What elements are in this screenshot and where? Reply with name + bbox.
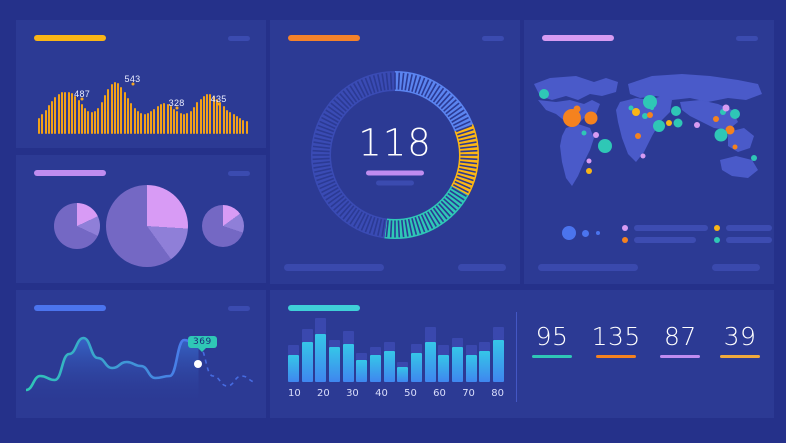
wave-bar [61, 92, 63, 134]
bar-column[interactable] [452, 318, 463, 382]
bar-x-tick: 70 [462, 388, 475, 399]
kpi-item[interactable]: 95 [532, 324, 572, 358]
wave-bar [117, 83, 119, 134]
wave-bar [242, 120, 244, 134]
gauge-tick [313, 151, 330, 152]
gauge-center-readout: 118 [335, 125, 455, 186]
wave-bar [81, 104, 83, 134]
world-bubble-map[interactable] [532, 66, 768, 206]
bar-segment-base [356, 360, 367, 382]
bar-segment-top [493, 327, 504, 340]
wave-bar [87, 111, 89, 134]
footer-placeholder-right [458, 264, 506, 271]
wave-bar [196, 102, 198, 134]
bar-segment-top [425, 327, 436, 342]
kpi-item[interactable]: 39 [720, 324, 760, 358]
kpi-row: 951358739 [532, 324, 760, 358]
legend-dot-purple [622, 225, 628, 231]
bar-x-tick: 10 [288, 388, 301, 399]
footer-placeholder-left [538, 264, 638, 271]
wave-bar [134, 108, 136, 134]
map-bubble[interactable] [581, 131, 586, 136]
kpi-underline [660, 355, 700, 358]
card-title-bar [542, 35, 614, 41]
bar-x-tick: 30 [346, 388, 359, 399]
kpi-value: 39 [720, 324, 760, 350]
bar-column[interactable] [343, 318, 354, 382]
bar-segment-top [343, 331, 354, 344]
wave-bar [38, 118, 40, 134]
map-bubble[interactable] [593, 132, 599, 138]
card-title-bar [34, 170, 106, 176]
legend-row-teal [726, 237, 772, 243]
wave-bar [111, 84, 113, 134]
wave-bar [91, 112, 93, 134]
map-bubble[interactable] [598, 139, 612, 153]
wave-bar [78, 100, 80, 134]
wave-bar [173, 109, 175, 134]
wave-bar [239, 118, 241, 134]
legend-size-large [562, 226, 576, 240]
card-menu-pill[interactable] [228, 36, 250, 41]
bar-x-tick: 20 [317, 388, 330, 399]
wave-bar [246, 121, 248, 134]
wave-bar [74, 96, 76, 134]
bar-column[interactable] [370, 318, 381, 382]
bar-column[interactable] [302, 318, 313, 382]
wave-bar [186, 113, 188, 134]
bar-x-axis: 1020304050607080 [288, 388, 504, 399]
bar-column[interactable] [411, 318, 422, 382]
bar-x-tick: 40 [375, 388, 388, 399]
wave-bar [176, 111, 178, 134]
kpi-item[interactable]: 135 [592, 324, 641, 358]
wave-bar [219, 102, 221, 134]
bar-column[interactable] [397, 318, 408, 382]
legend-row-amber [726, 225, 772, 231]
bar-segment-base [329, 347, 340, 382]
wave-bar [163, 103, 165, 134]
bar-column[interactable] [466, 318, 477, 382]
wave-bar [200, 99, 202, 134]
gauge-card[interactable]: 118 [270, 20, 520, 284]
wave-bar [180, 113, 182, 134]
wave-bar [153, 109, 155, 134]
map-bubble[interactable] [573, 106, 580, 113]
map-bubble[interactable] [539, 89, 549, 99]
card-menu-pill[interactable] [482, 36, 504, 41]
bar-segment-top [302, 329, 313, 342]
wave-bar [71, 93, 73, 134]
line-marker-point[interactable] [194, 360, 202, 368]
card-menu-pill[interactable] [736, 36, 758, 41]
bar-column[interactable] [493, 318, 504, 382]
card-menu-pill[interactable] [228, 306, 250, 311]
line-tooltip: 369 [188, 336, 217, 348]
wave-bar [203, 96, 205, 134]
wave-bar [54, 97, 56, 134]
wave-bar [160, 104, 162, 134]
map-bubble[interactable] [653, 120, 665, 132]
wave-bar [68, 92, 70, 134]
wave-bar [107, 89, 109, 134]
wave-bar [101, 102, 103, 134]
wave-bar [97, 108, 99, 134]
pie-main-center[interactable] [106, 185, 188, 267]
bar-segment-base [384, 351, 395, 382]
wave-peak-dot [175, 107, 178, 110]
map-bubble[interactable] [586, 159, 591, 164]
gauge-tick [391, 73, 392, 90]
trend-line-card[interactable]: 369 [16, 290, 266, 418]
bar-column[interactable] [479, 318, 490, 382]
bar-segment-top [466, 345, 477, 354]
legend-row-orange [634, 237, 696, 243]
kpi-value: 95 [532, 324, 572, 350]
wave-bar [140, 113, 142, 134]
wave-bar [193, 107, 195, 134]
wave-bar [157, 106, 159, 134]
wave-bar [233, 114, 235, 134]
wave-bar [236, 116, 238, 134]
wave-bar [170, 106, 172, 134]
map-bubble[interactable] [647, 112, 653, 118]
map-bubble[interactable] [635, 133, 641, 139]
bar-column[interactable] [315, 318, 326, 382]
map-bubble[interactable] [730, 109, 740, 119]
wave-bar [127, 98, 129, 134]
bar-segment-base [493, 340, 504, 382]
gauge-underline-secondary [376, 181, 414, 186]
bar-segment-top [452, 338, 463, 347]
bar-column[interactable] [288, 318, 299, 382]
wave-bar [58, 94, 60, 134]
wave-bar [226, 110, 228, 134]
wave-bar [167, 104, 169, 134]
legend-row-purple [634, 225, 708, 231]
wave-bar [206, 94, 208, 134]
footer-placeholder-right [712, 264, 760, 271]
wave-bar [130, 103, 132, 134]
map-bubble[interactable] [629, 106, 634, 111]
map-legend [538, 220, 760, 246]
pie-breakdown-card[interactable] [16, 155, 266, 283]
wave-bar [45, 110, 47, 134]
map-bubble[interactable] [671, 106, 681, 116]
gauge-tick [391, 220, 392, 237]
wave-peak-dot [81, 98, 84, 101]
wave-bar [114, 82, 116, 134]
map-bubble[interactable] [751, 155, 757, 161]
gauge-tick [398, 220, 399, 237]
card-title-bar [288, 305, 360, 311]
wave-bar [223, 106, 225, 134]
wave-histogram-plot: 487543328435 [38, 62, 248, 134]
bar-segment-top [370, 347, 381, 354]
bar-segment-top [411, 344, 422, 353]
gauge-value: 118 [335, 125, 455, 162]
legend-dot-teal [714, 237, 720, 243]
kpi-underline [596, 355, 636, 358]
bar-segment-top [479, 342, 490, 351]
wave-peak-dot [131, 82, 134, 85]
wave-bar [144, 114, 146, 134]
map-bubble[interactable] [586, 168, 592, 174]
map-bubble[interactable] [666, 120, 672, 126]
legend-dot-orange [622, 237, 628, 243]
trend-line-plot [26, 326, 256, 406]
legend-dot-amber [714, 225, 720, 231]
card-divider [516, 312, 517, 402]
bar-segment-top [356, 353, 367, 360]
pie-small-left[interactable] [54, 203, 100, 249]
legend-size-small [596, 231, 600, 235]
map-bubble[interactable] [714, 128, 727, 141]
bar-segment-base [397, 367, 408, 382]
card-title-bar [288, 35, 360, 41]
stacked-bar-chart [288, 318, 504, 382]
wave-bar [84, 108, 86, 134]
map-bubble[interactable] [650, 106, 654, 110]
kpi-value: 87 [660, 324, 700, 350]
gauge-donut[interactable]: 118 [303, 63, 487, 247]
bar-segment-base [288, 355, 299, 382]
bar-segment-top [288, 345, 299, 354]
world-map-card[interactable] [524, 20, 774, 284]
map-bubble[interactable] [732, 145, 737, 150]
kpi-item[interactable]: 87 [660, 324, 700, 358]
wave-bar [147, 113, 149, 134]
bar-column[interactable] [329, 318, 340, 382]
wave-bar [94, 111, 96, 134]
gauge-underline-primary [366, 171, 424, 176]
map-bubble[interactable] [640, 153, 645, 158]
bar-column[interactable] [356, 318, 367, 382]
bar-segment-top [329, 340, 340, 347]
wave-bar [104, 95, 106, 134]
footer-placeholder-left [284, 264, 384, 271]
dashboard: 487543328435 118 [0, 0, 786, 443]
wave-bar [64, 92, 66, 134]
gauge-tick [313, 158, 330, 159]
map-bubble[interactable] [585, 111, 598, 124]
wave-bar [183, 114, 185, 134]
wave-peak-dot [217, 102, 220, 105]
bar-segment-base [343, 344, 354, 382]
bar-x-tick: 60 [433, 388, 446, 399]
wave-bar [48, 105, 50, 134]
gauge-tick [460, 151, 477, 152]
wave-bar [229, 112, 231, 134]
kpi-underline [532, 355, 572, 358]
gauge-tick [398, 73, 399, 90]
map-bubble[interactable] [713, 116, 719, 122]
bar-x-tick: 50 [404, 388, 417, 399]
bar-kpi-card[interactable]: 1020304050607080 951358739 [270, 290, 774, 418]
bar-segment-top [438, 345, 449, 354]
map-bubble[interactable] [694, 122, 700, 128]
world-map-shape [532, 66, 768, 206]
bar-column[interactable] [425, 318, 436, 382]
wave-histogram-card[interactable]: 487543328435 [16, 20, 266, 148]
pie-small-right[interactable] [202, 205, 244, 247]
bar-column[interactable] [438, 318, 449, 382]
wave-bars [38, 78, 248, 134]
bar-x-tick: 80 [491, 388, 504, 399]
wave-bar [137, 111, 139, 134]
card-menu-pill[interactable] [228, 171, 250, 176]
bar-segment-base [466, 355, 477, 382]
bar-segment-top [315, 318, 326, 334]
bar-segment-base [438, 355, 449, 382]
gauge-tick [460, 158, 477, 159]
legend-size-medium [582, 230, 589, 237]
bar-segment-base [452, 347, 463, 382]
kpi-value: 135 [592, 324, 641, 350]
card-title-bar [34, 305, 106, 311]
wave-bar [150, 111, 152, 134]
bar-segment-base [315, 334, 326, 382]
card-title-bar [34, 35, 106, 41]
wave-bar [120, 87, 122, 134]
wave-bar [41, 114, 43, 134]
wave-bar [51, 101, 53, 134]
bar-segment-base [411, 353, 422, 382]
bar-segment-base [479, 351, 490, 382]
bar-segment-base [370, 355, 381, 382]
kpi-underline [720, 355, 760, 358]
wave-bar [124, 92, 126, 134]
bar-segment-base [302, 342, 313, 382]
map-bubble[interactable] [722, 105, 729, 112]
map-bubble[interactable] [674, 119, 683, 128]
bar-segment-top [384, 342, 395, 351]
bar-column[interactable] [384, 318, 395, 382]
wave-bar [190, 111, 192, 134]
bar-segment-base [425, 342, 436, 382]
